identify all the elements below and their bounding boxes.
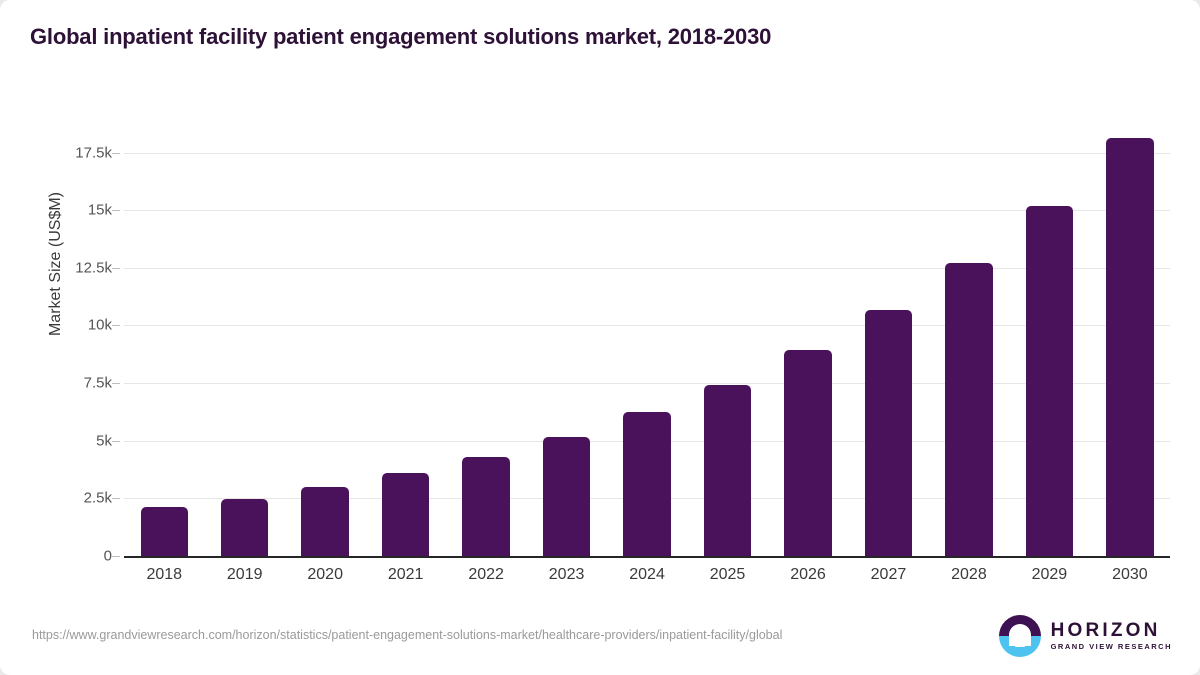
bar-slot: [1090, 118, 1170, 556]
logo-text-block: HORIZON GRAND VIEW RESEARCH: [1051, 621, 1172, 651]
bar-2019[interactable]: [221, 499, 268, 556]
bar-slot: [446, 118, 526, 556]
source-url[interactable]: https://www.grandviewresearch.com/horizo…: [32, 627, 922, 644]
plot-area: 02.5k5k7.5k10k12.5k15k17.5k: [124, 118, 1170, 558]
bar-2023[interactable]: [543, 437, 590, 556]
bar-2022[interactable]: [462, 457, 509, 556]
y-tick-mark: [112, 153, 120, 154]
y-tick-label: 10k: [48, 317, 112, 334]
y-tick-label: 12.5k: [48, 259, 112, 276]
bar-2020[interactable]: [301, 487, 348, 556]
y-tick-mark: [112, 325, 120, 326]
bar-2026[interactable]: [784, 350, 831, 556]
y-tick-mark: [112, 268, 120, 269]
x-tick-label-2021: 2021: [365, 566, 445, 584]
x-tick-label-2027: 2027: [848, 566, 928, 584]
bar-slot: [124, 118, 204, 556]
bar-slot: [687, 118, 767, 556]
y-tick-label: 15k: [48, 202, 112, 219]
bar-slot: [365, 118, 445, 556]
y-tick-label: 0: [48, 548, 112, 565]
x-tick-label-2030: 2030: [1090, 566, 1170, 584]
x-axis-line: [124, 556, 1170, 558]
x-axis-tick-labels: 2018201920202021202220232024202520262027…: [124, 566, 1170, 584]
bar-2028[interactable]: [945, 263, 992, 556]
x-tick-label-2025: 2025: [687, 566, 767, 584]
bar-slot: [848, 118, 928, 556]
bar-2021[interactable]: [382, 473, 429, 556]
horizon-line-1: [1012, 640, 1028, 642]
plot-wrapper: Market Size (US$M) 02.5k5k7.5k10k12.5k15…: [0, 0, 1200, 675]
x-tick-label-2029: 2029: [1009, 566, 1089, 584]
y-tick-label: 17.5k: [48, 144, 112, 161]
logo-wordmark: HORIZON: [1051, 621, 1172, 640]
bar-slot: [285, 118, 365, 556]
bar-2024[interactable]: [623, 412, 670, 556]
y-tick-mark: [112, 556, 120, 557]
x-tick-label-2022: 2022: [446, 566, 526, 584]
bar-slot: [929, 118, 1009, 556]
bar-slot: [607, 118, 687, 556]
y-tick-mark: [112, 498, 120, 499]
y-tick-label: 2.5k: [48, 490, 112, 507]
bar-2030[interactable]: [1106, 138, 1153, 556]
bar-2027[interactable]: [865, 310, 912, 556]
x-tick-label-2018: 2018: [124, 566, 204, 584]
bar-series: [124, 118, 1170, 556]
horizon-logo[interactable]: HORIZON GRAND VIEW RESEARCH: [999, 615, 1172, 657]
bar-2018[interactable]: [141, 507, 188, 556]
x-tick-label-2024: 2024: [607, 566, 687, 584]
bar-slot: [204, 118, 284, 556]
bar-slot: [1009, 118, 1089, 556]
bar-2029[interactable]: [1026, 206, 1073, 556]
x-tick-label-2028: 2028: [929, 566, 1009, 584]
y-tick-label: 7.5k: [48, 375, 112, 392]
logo-tagline: GRAND VIEW RESEARCH: [1051, 643, 1172, 651]
horizon-line-2: [1015, 645, 1025, 647]
bar-2025[interactable]: [704, 385, 751, 556]
x-tick-label-2026: 2026: [768, 566, 848, 584]
y-tick-mark: [112, 441, 120, 442]
y-tick-label: 5k: [48, 432, 112, 449]
horizon-logo-icon: [999, 615, 1041, 657]
x-tick-label-2023: 2023: [526, 566, 606, 584]
bar-slot: [768, 118, 848, 556]
sun-dome-shape: [1009, 624, 1031, 646]
chart-page: Global inpatient facility patient engage…: [0, 0, 1200, 675]
y-tick-mark: [112, 383, 120, 384]
x-tick-label-2020: 2020: [285, 566, 365, 584]
x-tick-label-2019: 2019: [204, 566, 284, 584]
bar-slot: [526, 118, 606, 556]
y-tick-mark: [112, 210, 120, 211]
